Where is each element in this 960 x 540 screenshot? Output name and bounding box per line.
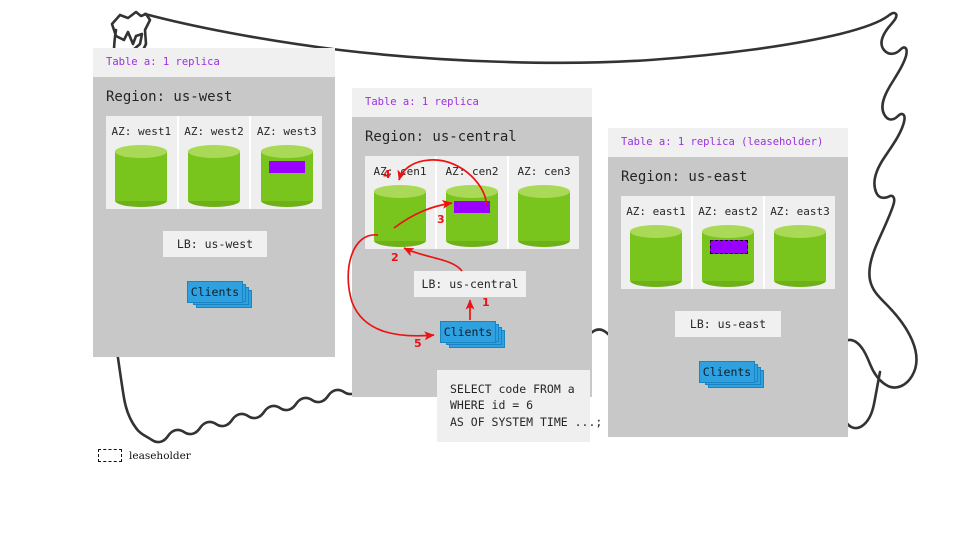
arrow-label-5: 5 (414, 337, 422, 350)
az-label: AZ: cen3 (518, 165, 571, 178)
az-label: AZ: east1 (626, 205, 686, 218)
dashed-rectangle-icon (98, 449, 122, 462)
az-label: AZ: west3 (257, 125, 317, 138)
region-panel-us-central: Table a: 1 replica Region: us-central AZ… (352, 88, 592, 397)
region-panel-us-west: Table a: 1 replica Region: us-west AZ: w… (93, 48, 335, 357)
arrow-label-3: 3 (437, 213, 445, 226)
az-label: AZ: east3 (770, 205, 830, 218)
arrow-label-2: 2 (391, 251, 399, 264)
az-cen1[interactable]: AZ: cen1 (365, 156, 437, 249)
region-table-header-us-central: Table a: 1 replica (352, 88, 592, 117)
region-name-us-central: Region: us-central (352, 117, 592, 156)
cylinder-east3[interactable] (774, 225, 826, 277)
diagram-canvas: Table a: 1 replica Region: us-west AZ: w… (0, 0, 960, 540)
az-label: AZ: west1 (112, 125, 172, 138)
cylinder-east2[interactable] (702, 225, 754, 277)
cylinder-east1[interactable] (630, 225, 682, 277)
clients-us-east[interactable]: Clients (699, 361, 763, 387)
replica-block-cen2[interactable] (454, 201, 490, 213)
arrow-label-4: 4 (383, 168, 391, 181)
lb-label-us-west: LB: us-west (177, 237, 253, 251)
legend-leaseholder: leaseholder (98, 449, 191, 462)
replica-block-east2-leaseholder[interactable] (710, 240, 748, 254)
cylinder-cen1[interactable] (374, 185, 426, 237)
cylinder-west2[interactable] (188, 145, 240, 197)
cylinder-west1[interactable] (115, 145, 167, 197)
az-label: AZ: east2 (698, 205, 758, 218)
region-table-header-us-west: Table a: 1 replica (93, 48, 335, 77)
clients-us-west[interactable]: Clients (187, 281, 251, 307)
az-west3[interactable]: AZ: west3 (251, 116, 322, 209)
cylinder-cen2[interactable] (446, 185, 498, 237)
region-body-us-west: Region: us-west AZ: west1 AZ: west2 (93, 77, 335, 357)
load-balancer-us-west[interactable]: LB: us-west (163, 231, 267, 257)
region-panel-us-east: Table a: 1 replica (leaseholder) Region:… (608, 128, 848, 437)
az-west2[interactable]: AZ: west2 (179, 116, 252, 209)
az-west1[interactable]: AZ: west1 (106, 116, 179, 209)
cylinder-west3[interactable] (261, 145, 313, 197)
region-body-us-east: Region: us-east AZ: east1 AZ: east2 (608, 157, 848, 437)
az-label: AZ: cen2 (446, 165, 499, 178)
az-east2[interactable]: AZ: east2 (693, 196, 765, 289)
legend-label: leaseholder (129, 450, 191, 462)
az-row-us-east: AZ: east1 AZ: east2 (621, 196, 835, 289)
region-body-us-central: Region: us-central AZ: cen1 AZ: cen2 (352, 117, 592, 397)
az-east1[interactable]: AZ: east1 (621, 196, 693, 289)
cylinder-cen3[interactable] (518, 185, 570, 237)
lb-label-us-east: LB: us-east (690, 317, 766, 331)
sql-query-box: SELECT code FROM a WHERE id = 6 AS OF SY… (437, 370, 590, 442)
region-name-us-east: Region: us-east (608, 157, 848, 196)
clients-label-us-west: Clients (191, 285, 239, 299)
az-east3[interactable]: AZ: east3 (765, 196, 835, 289)
az-row-us-central: AZ: cen1 AZ: cen2 (365, 156, 579, 249)
replica-block-west3[interactable] (269, 161, 305, 173)
az-cen2[interactable]: AZ: cen2 (437, 156, 509, 249)
region-name-us-west: Region: us-west (93, 77, 335, 116)
az-cen3[interactable]: AZ: cen3 (509, 156, 579, 249)
load-balancer-us-east[interactable]: LB: us-east (675, 311, 781, 337)
arrow-label-1: 1 (482, 296, 490, 309)
clients-label-us-central: Clients (444, 325, 492, 339)
az-label: AZ: cen1 (374, 165, 427, 178)
az-label: AZ: west2 (184, 125, 244, 138)
region-table-header-us-east: Table a: 1 replica (leaseholder) (608, 128, 848, 157)
load-balancer-us-central[interactable]: LB: us-central (414, 271, 526, 297)
az-row-us-west: AZ: west1 AZ: west2 AZ (106, 116, 322, 209)
clients-us-central[interactable]: Clients (440, 321, 504, 347)
clients-label-us-east: Clients (703, 365, 751, 379)
lb-label-us-central: LB: us-central (422, 277, 519, 291)
